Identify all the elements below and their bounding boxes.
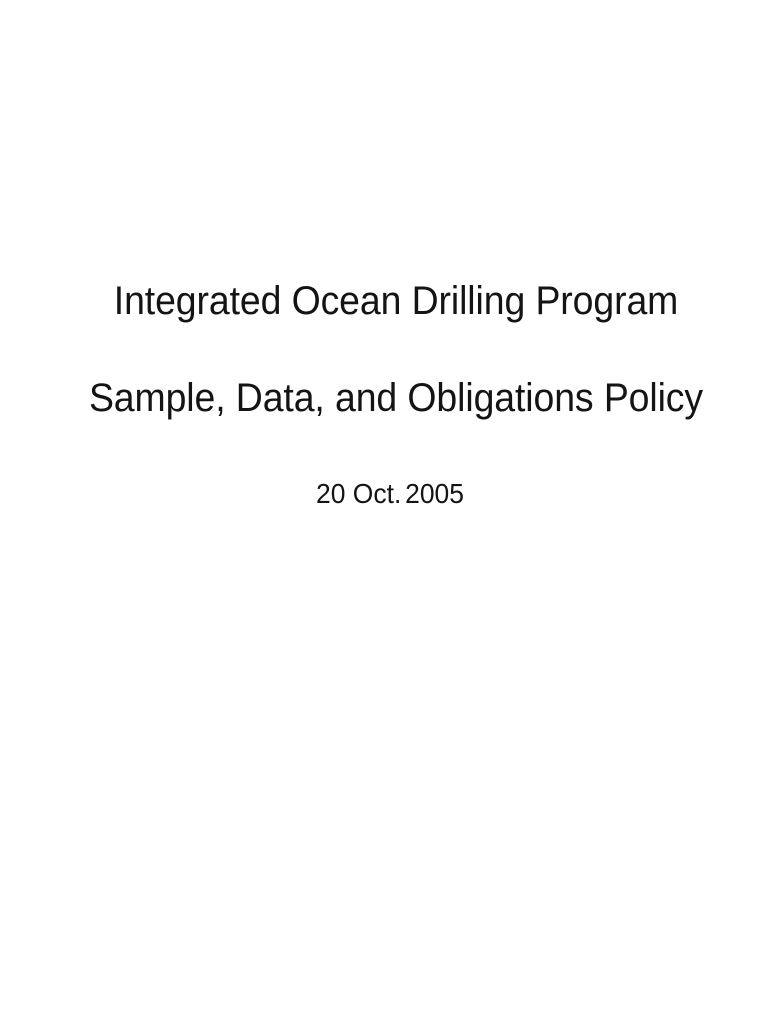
document-date: 20 Oct.2005 — [21, 480, 758, 508]
document-title: Sample, Data, and Obligations Policy — [26, 378, 767, 418]
date-month: Oct. — [353, 478, 402, 509]
document-page: Integrated Ocean Drilling Program Sample… — [0, 0, 770, 1024]
date-day: 20 — [316, 478, 345, 509]
organization-title: Integrated Ocean Drilling Program — [26, 281, 767, 321]
date-year: 2005 — [405, 478, 464, 509]
